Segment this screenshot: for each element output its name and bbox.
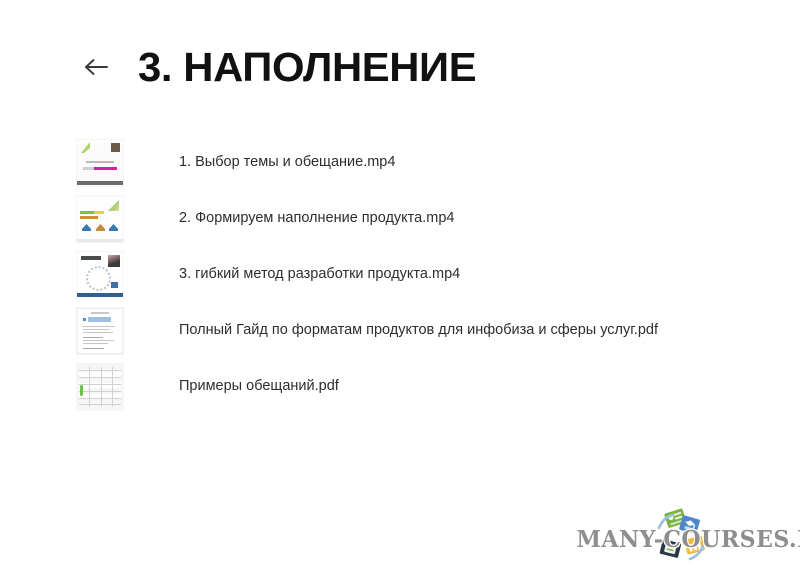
watermark: MANY-COURSES.NET	[572, 506, 796, 568]
list-item[interactable]: 3. гибкий метод разработки продукта.mp4	[77, 252, 737, 298]
list-item[interactable]: Примеры обещаний.pdf	[77, 364, 737, 410]
back-button[interactable]	[76, 47, 116, 87]
page-title: 3. НАПОЛНЕНИЕ	[138, 47, 476, 88]
file-name: 3. гибкий метод разработки продукта.mp4	[179, 266, 460, 283]
file-list: 1. Выбор темы и обещание.mp4 2. Формируе…	[77, 140, 737, 410]
slide-thumbnail-bars-icon	[77, 196, 123, 242]
file-name: 1. Выбор темы и обещание.mp4	[179, 154, 395, 171]
watermark-text: MANY-COURSES.NET	[576, 526, 791, 553]
file-name: Полный Гайд по форматам продуктов для ин…	[179, 322, 658, 339]
file-name: 2. Формируем наполнение продукта.mp4	[179, 210, 454, 227]
list-item[interactable]: 2. Формируем наполнение продукта.mp4	[77, 196, 737, 242]
list-item[interactable]: 1. Выбор темы и обещание.mp4	[77, 140, 737, 186]
slide-thumbnail-circle-icon	[77, 252, 123, 298]
page-header: 3. НАПОЛНЕНИЕ	[0, 36, 800, 98]
arrow-left-icon	[83, 57, 109, 77]
spreadsheet-thumbnail-icon	[77, 364, 123, 410]
slide-thumbnail-pink-icon	[77, 140, 123, 186]
file-name: Примеры обещаний.pdf	[179, 378, 339, 395]
many-courses-logo-icon	[650, 506, 712, 568]
document-thumbnail-icon	[77, 308, 123, 354]
list-item[interactable]: Полный Гайд по форматам продуктов для ин…	[77, 308, 737, 354]
